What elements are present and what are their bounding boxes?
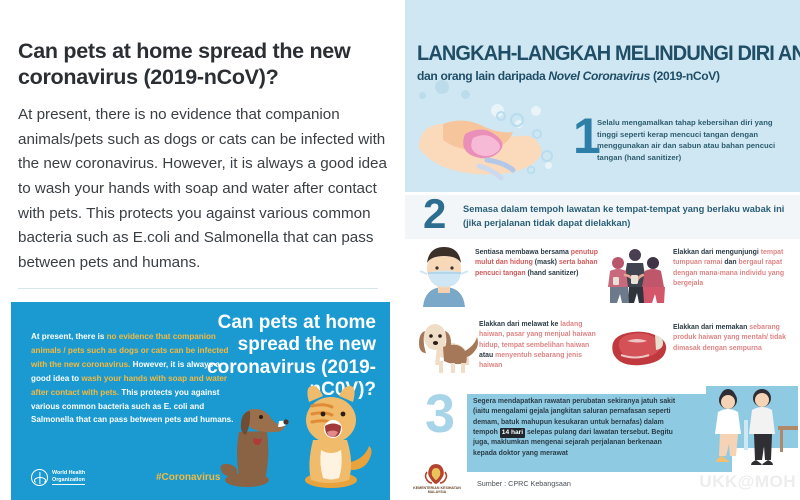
who-logo-line2: Organization (52, 477, 85, 484)
raw-meat-icon (607, 325, 669, 371)
dog-and-cat-illustration (209, 384, 384, 492)
crowd-people-icon (605, 247, 671, 305)
divider (18, 288, 378, 289)
dog-icon (417, 319, 479, 379)
tile-rawmeat-advice: Elakkan dari memakan sebarang produk hai… (603, 317, 798, 387)
who-seg-0: At present, there is (31, 332, 107, 341)
subtitle-post: (2019-nCoV) (650, 69, 720, 83)
tile3-seg-0: Elakkan dari melawat ke (479, 321, 560, 328)
tile-rawmeat-text: Elakkan dari memakan sebarang produk hai… (673, 323, 797, 354)
who-infographic-card: At present, there is no evidence that co… (11, 302, 390, 500)
step-2-text: Semasa dalam tempoh lawatan ke tempat-te… (463, 203, 793, 231)
tile1-seg-0: Sentiasa membawa bersama (475, 249, 571, 256)
step-1-text: Selalu mengamalkan tahap kebersihan diri… (597, 117, 782, 164)
hashtag-label: #Coronavirus (156, 472, 220, 483)
tile1-seg-4: (hand sanitizer) (527, 270, 578, 277)
infographic-header: LANGKAH-LANGKAH MELINDUNGI DIRI ANDA dan… (405, 0, 800, 100)
tile1-seg-2: (mask) (535, 259, 559, 266)
ministry-line2: MALAYSIA (407, 490, 467, 495)
tile-animal-text: Elakkan dari melawat ke ladang haiwan, p… (479, 320, 601, 372)
ministry-name: KEMENTERIAN KESIHATAN MALAYSIA (407, 486, 467, 495)
infographic-subtitle: dan orang lain daripada Novel Coronaviru… (417, 69, 797, 83)
tile-mask-text: Sentiasa membawa bersama penutup mulut d… (475, 248, 601, 279)
who-logo-text: World Health Organization (52, 470, 85, 486)
who-logo: World Health Organization (31, 469, 85, 486)
duration-chip: 14 hari (500, 428, 525, 438)
screenshot-root: Can pets at home spread the new coronavi… (0, 0, 800, 500)
advice-tiles: Sentiasa membawa bersama penutup mulut d… (405, 239, 800, 389)
who-emblem-icon (31, 469, 48, 486)
masked-person-icon (415, 245, 473, 307)
tile2-seg-2: dan (724, 259, 738, 266)
subtitle-italic: Novel Coronavirus (548, 69, 650, 83)
malay-infographic-panel: LANGKAH-LANGKAH MELINDUNGI DIRI ANDA dan… (405, 0, 800, 500)
step-3-number: 3 (425, 393, 455, 436)
tile-animal-advice: Elakkan dari melawat ke ladang haiwan, p… (413, 317, 603, 387)
tile3-seg-2: atau (479, 352, 495, 359)
subtitle-pre: dan orang lain daripada (417, 69, 548, 83)
ministry-crest-icon (423, 462, 449, 486)
doctor-consultation-icon (706, 386, 798, 476)
article-panel: Can pets at home spread the new coronavi… (0, 0, 400, 500)
tile2-seg-0: Elakkan dari mengunjungi (673, 249, 761, 256)
handwashing-icon (413, 108, 563, 192)
tile3-seg-3: menyentuh sebarang jenis haiwan (479, 352, 582, 369)
who-logo-line1: World Health (52, 470, 85, 477)
step-1-section: 1 Selalu mengamalkan tahap kebersihan di… (405, 100, 800, 192)
tile-mask-advice: Sentiasa membawa bersama penutup mulut d… (413, 243, 603, 313)
bubble-decor-icon (461, 90, 470, 99)
source-label: Sumber : CPRC Kebangsaan (477, 479, 571, 488)
watermark-label: UKK@MOH (699, 472, 796, 492)
cat-icon (305, 386, 372, 488)
dog-icon (221, 409, 289, 487)
tile-crowd-text: Elakkan dari mengunjungi tempat tumpuan … (673, 248, 797, 289)
bubble-decor-icon (419, 92, 426, 99)
infographic-title: LANGKAH-LANGKAH MELINDUNGI DIRI ANDA (417, 42, 770, 66)
tile-crowd-advice: Elakkan dari mengunjungi tempat tumpuan … (603, 243, 798, 313)
step-3-text: Segera mendapatkan rawatan perubatan sek… (473, 397, 678, 459)
article-body: At present, there is no evidence that co… (18, 103, 390, 275)
page-title: Can pets at home spread the new coronavi… (18, 38, 383, 90)
step-2-number: 2 (423, 196, 446, 232)
tile4-seg-0: Elakkan dari memakan (673, 324, 749, 331)
